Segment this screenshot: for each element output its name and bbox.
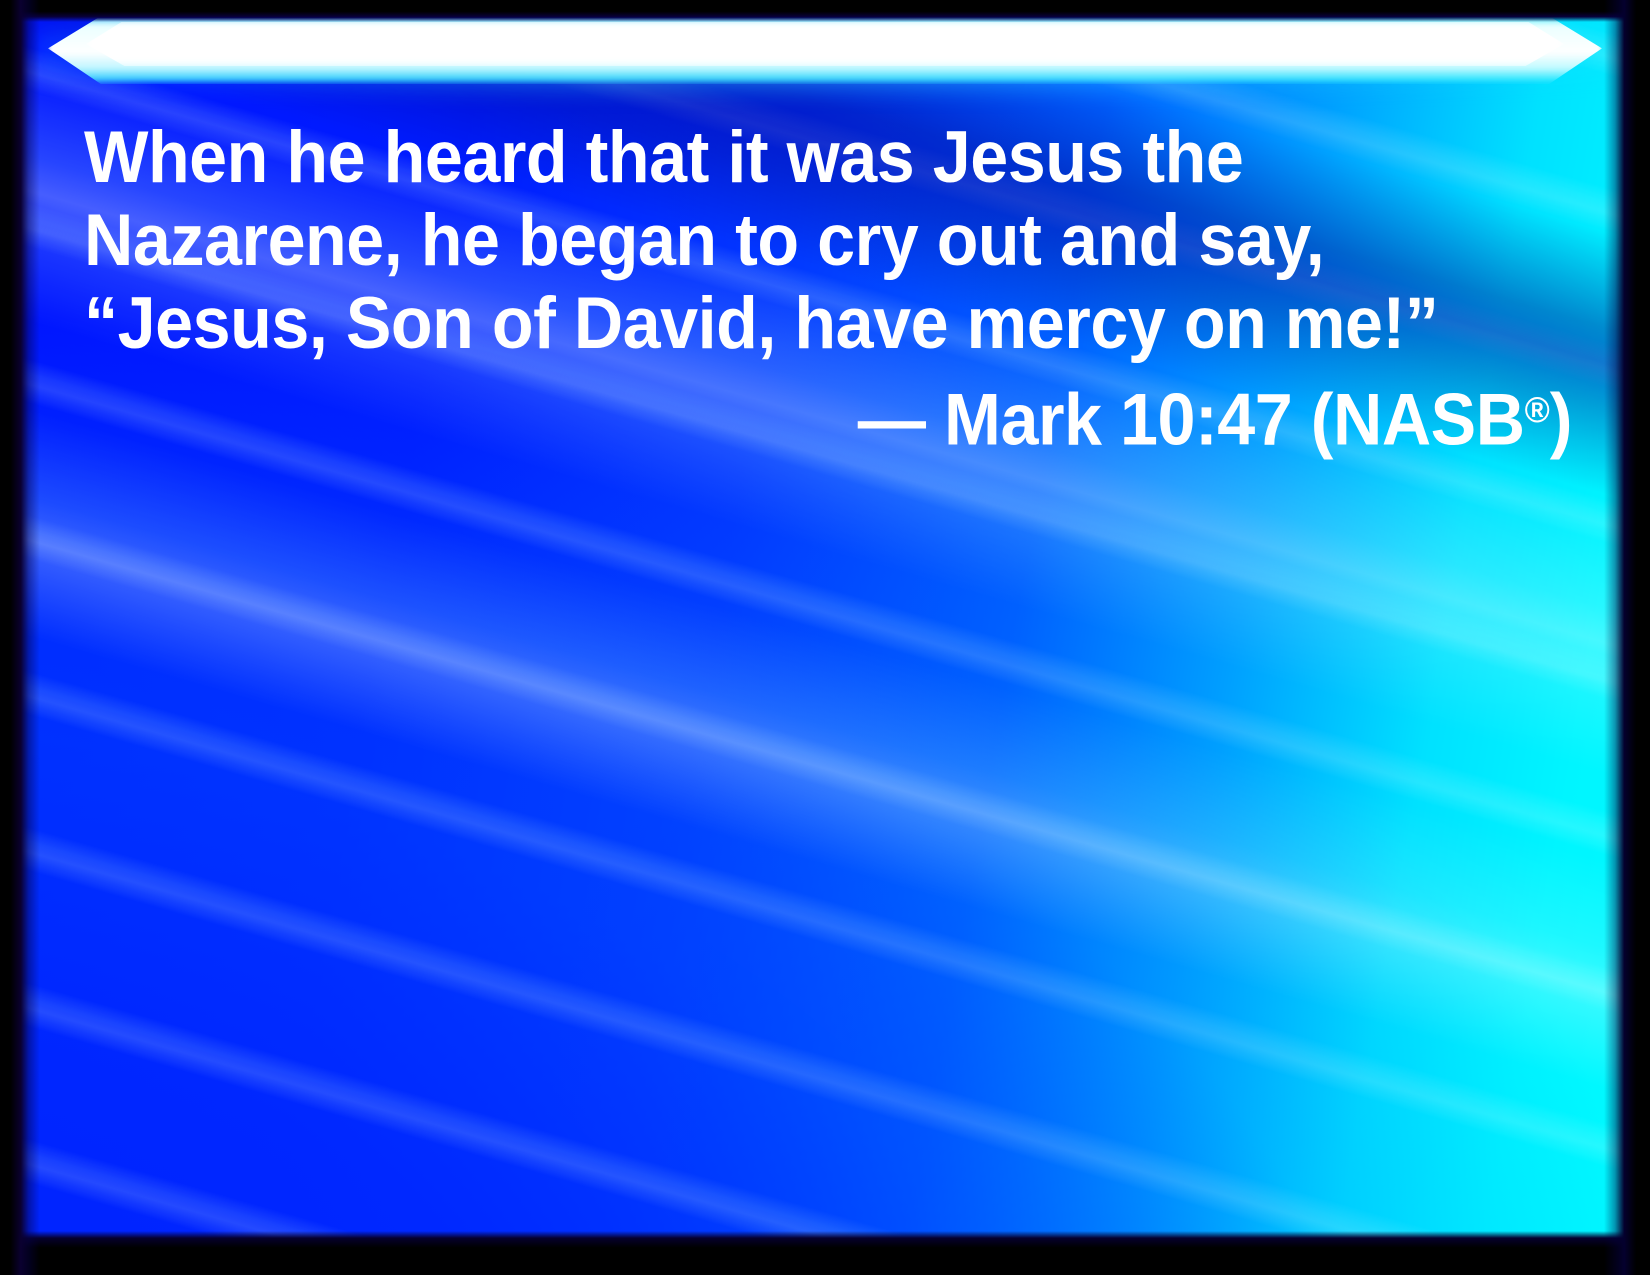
- registered-trademark-icon: ®: [1525, 389, 1550, 430]
- reference-dash: —: [858, 380, 926, 461]
- verse-line-3: “Jesus, Son of David, have mercy on me!”: [84, 282, 1475, 365]
- verse-line-1: When he heard that it was Jesus the: [84, 116, 1475, 199]
- reference-spacer-2: [1292, 380, 1311, 461]
- reference-open-paren: (: [1311, 380, 1333, 461]
- frame-edge-bottom: [0, 1231, 1650, 1275]
- frame-edge-top: [0, 0, 1650, 22]
- verse-reference: — Mark 10:47 (NASB®): [181, 365, 1572, 464]
- verse-text-block: When he heard that it was Jesus the Naza…: [84, 116, 1572, 464]
- reference-spacer-1: [926, 380, 945, 461]
- verse-line-2: Nazarene, he began to cry out and say,: [84, 199, 1475, 282]
- verse-slide: When he heard that it was Jesus the Naza…: [0, 0, 1650, 1275]
- frame-edge-left: [0, 0, 40, 1275]
- frame-edge-right: [1604, 0, 1650, 1275]
- reference-citation: Mark 10:47: [944, 380, 1292, 461]
- top-glow-band-core: [86, 22, 1564, 66]
- reference-close-paren: ): [1550, 380, 1572, 461]
- reference-translation: NASB: [1333, 380, 1525, 461]
